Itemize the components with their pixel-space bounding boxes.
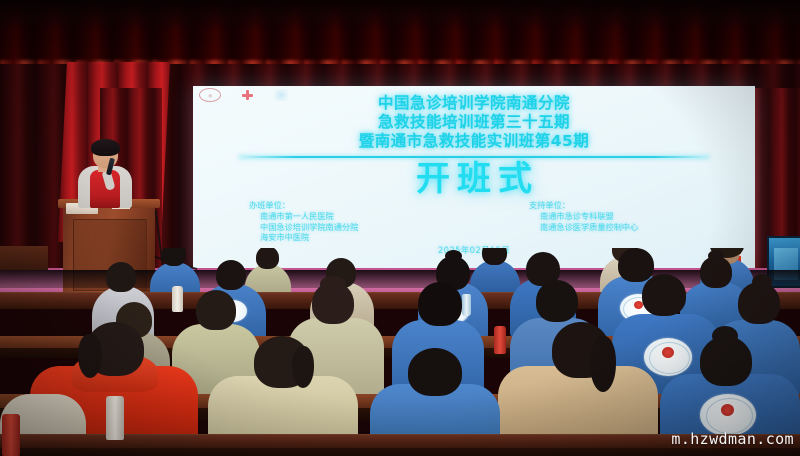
organizer-header: 办班单位： <box>249 200 358 211</box>
slide-supporter-column: 支持单位： 南通市急诊专科联盟 南通急诊医学质量控制中心 <box>529 200 719 243</box>
curtain-top-shadow <box>0 0 800 30</box>
slide-divider-rule <box>239 156 709 158</box>
thermos-white <box>172 286 183 312</box>
slide-title-line-2: 急救技能培训班第三十五期 <box>193 113 755 132</box>
thermos-red <box>2 414 20 456</box>
site-watermark: m.hzwdman.com <box>671 430 794 448</box>
organizer-item: 海安市中医院 <box>249 232 358 243</box>
speaker-glasses <box>96 152 115 158</box>
organizer-item: 中国急诊培训学院南通分院 <box>249 222 358 233</box>
supporter-item: 南通急诊医学质量控制中心 <box>529 222 719 233</box>
slide-organizer-column: 办班单位： 南通市第一人民医院 中国急诊培训学院南通分院 海安市中医院 <box>249 200 358 243</box>
slide-title-line-3: 暨南通市急救技能实训班第45期 <box>193 132 755 151</box>
audience-area: 求 真 务 <box>0 248 800 456</box>
slide-title-line-1: 中国急诊培训学院南通分院 <box>193 94 755 113</box>
slide-title: 中国急诊培训学院南通分院 急救技能培训班第三十五期 暨南通市急救技能实训班第45… <box>193 94 755 151</box>
photograph-scene: ◎ 中国急诊培训学院南通分院 急救技能培训班第三十五期 暨南通市急救技能实训班第… <box>0 0 800 456</box>
projection-screen: ◎ 中国急诊培训学院南通分院 急救技能培训班第三十五期 暨南通市急救技能实训班第… <box>193 86 755 270</box>
thermos-red <box>494 326 506 354</box>
slide-headline: 开班式 <box>193 160 755 198</box>
thermos-white <box>106 396 124 440</box>
supporter-header: 支持单位： <box>529 200 719 211</box>
slide-credits: 办班单位： 南通市第一人民医院 中国急诊培训学院南通分院 海安市中医院 支持单位… <box>249 200 719 243</box>
supporter-item: 南通市急诊专科联盟 <box>529 211 719 222</box>
bench-row-front-shadow <box>0 448 800 456</box>
water-bottle <box>462 294 471 316</box>
organizer-item: 南通市第一人民医院 <box>249 211 358 222</box>
